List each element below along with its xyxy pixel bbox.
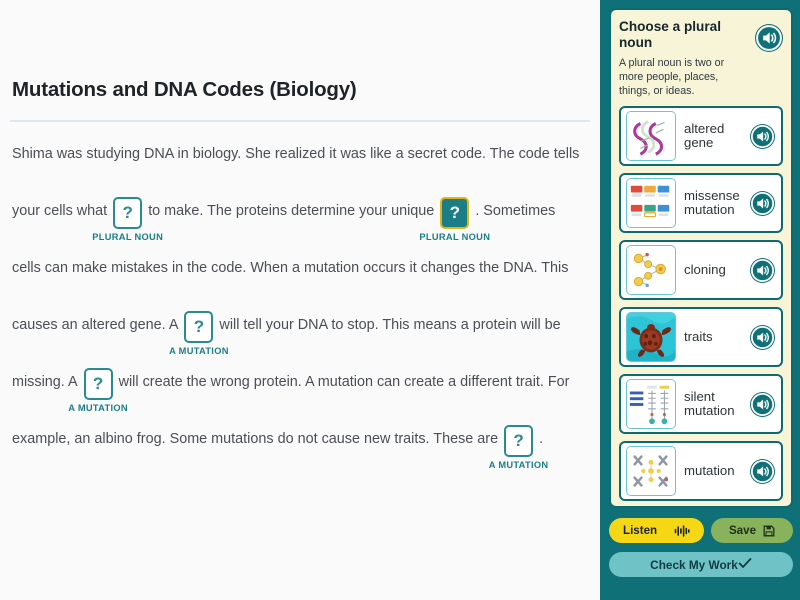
passage-text-segment: will create the wrong protein. A mutatio… [119,368,570,392]
choice-speaker-icon[interactable] [750,124,775,149]
choice-speaker-icon[interactable] [750,191,775,216]
prompt-speaker-icon[interactable] [755,24,783,52]
choice-speaker-icon[interactable] [750,258,775,283]
choice-item[interactable]: traits [619,307,783,367]
waveform-icon [674,525,690,537]
listen-button-label: Listen [623,524,657,537]
choice-speaker-icon[interactable] [750,459,775,484]
choice-item[interactable]: altered gene [619,106,783,166]
codon-blocks-thumbnail [626,178,676,228]
blank-hint-label: A MUTATION [68,402,128,415]
passage-line: causes an altered gene. A?A MUTATIONwill… [12,311,588,368]
blank-button[interactable]: ? [113,197,142,229]
passage-text-segment: example, an albino frog. Some mutations … [12,425,498,449]
choice-label: traits [676,330,750,345]
word-bank-panel: Choose a plural noun A plural noun is tw… [600,0,800,600]
choice-label: mutation [676,464,750,479]
passage-line: your cells what?PLURAL NOUNto make. The … [12,197,588,254]
passage-line: Shima was studying DNA in biology. She r… [12,140,588,197]
checkmark-icon [738,557,752,572]
word-bank-card: Choose a plural noun A plural noun is tw… [609,8,793,508]
blank-hint-label: PLURAL NOUN [92,231,163,244]
choice-label: altered gene [676,122,750,152]
passage-line: example, an albino frog. Some mutations … [12,425,588,482]
blank-slot: ?PLURAL NOUN [440,197,469,229]
choice-item[interactable]: cloning [619,240,783,300]
choice-item[interactable]: missense mutation [619,173,783,233]
blank-slot: ?A MUTATION [84,368,113,400]
activity-screen: Mutations and DNA Codes (Biology) Shima … [0,0,800,600]
blank-button[interactable]: ? [504,425,533,457]
choice-label: missense mutation [676,189,750,219]
passage-text-segment: your cells what [12,197,107,221]
choice-item[interactable]: silent mutation [619,374,783,434]
blank-hint-label: A MUTATION [489,459,549,472]
choice-item[interactable]: mutation [619,441,783,501]
chromosome-thumbnail [626,446,676,496]
passage-text: Shima was studying DNA in biology. She r… [0,122,600,482]
silent-mutation-thumbnail [626,379,676,429]
choice-speaker-icon[interactable] [750,392,775,417]
check-button-label: Check My Work [650,558,738,572]
blank-hint-label: A MUTATION [169,345,229,358]
cloning-diagram-thumbnail [626,245,676,295]
save-button[interactable]: Save [711,518,793,543]
action-button-row: Listen Save [609,518,793,543]
blank-button-selected[interactable]: ? [440,197,469,229]
prompt-title: Choose a plural noun [619,19,751,56]
passage-line: cells can make mistakes in the code. Whe… [12,254,588,311]
choice-speaker-icon[interactable] [750,325,775,350]
passage-text-segment: missing. A [12,368,78,392]
passage-pane: Mutations and DNA Codes (Biology) Shima … [0,0,600,600]
passage-text-segment: to make. The proteins determine your uni… [148,197,434,221]
passage-text-segment: . [539,425,543,449]
blank-hint-label: PLURAL NOUN [419,231,490,244]
passage-line: missing. A?A MUTATIONwill create the wro… [12,368,588,425]
prompt-row: Choose a plural noun A plural noun is tw… [619,19,783,98]
listen-button[interactable]: Listen [609,518,704,543]
dna-helix-thumbnail [626,111,676,161]
prompt-description: A plural noun is two or more people, pla… [619,56,751,98]
blank-slot: ?PLURAL NOUN [113,197,142,229]
blank-button[interactable]: ? [84,368,113,400]
passage-text-segment: Shima was studying DNA in biology. She r… [12,140,579,164]
sea-turtle-photo-thumbnail [626,312,676,362]
choice-label: cloning [676,263,750,278]
check-my-work-button[interactable]: Check My Work [609,552,793,577]
save-button-label: Save [729,524,756,537]
passage-text-segment: . Sometimes [475,197,555,221]
blank-slot: ?A MUTATION [184,311,213,343]
floppy-disk-icon [763,525,775,537]
passage-text-segment: causes an altered gene. A [12,311,178,335]
page-title: Mutations and DNA Codes (Biology) [0,78,600,102]
passage-text-segment: will tell your DNA to stop. This means a… [219,311,560,335]
choice-list: altered gene missense mutati [619,106,783,501]
passage-text-segment: cells can make mistakes in the code. Whe… [12,254,568,278]
prompt-texts: Choose a plural noun A plural noun is tw… [619,19,755,98]
choice-label: silent mutation [676,390,750,420]
blank-button[interactable]: ? [184,311,213,343]
blank-slot: ?A MUTATION [504,425,533,457]
